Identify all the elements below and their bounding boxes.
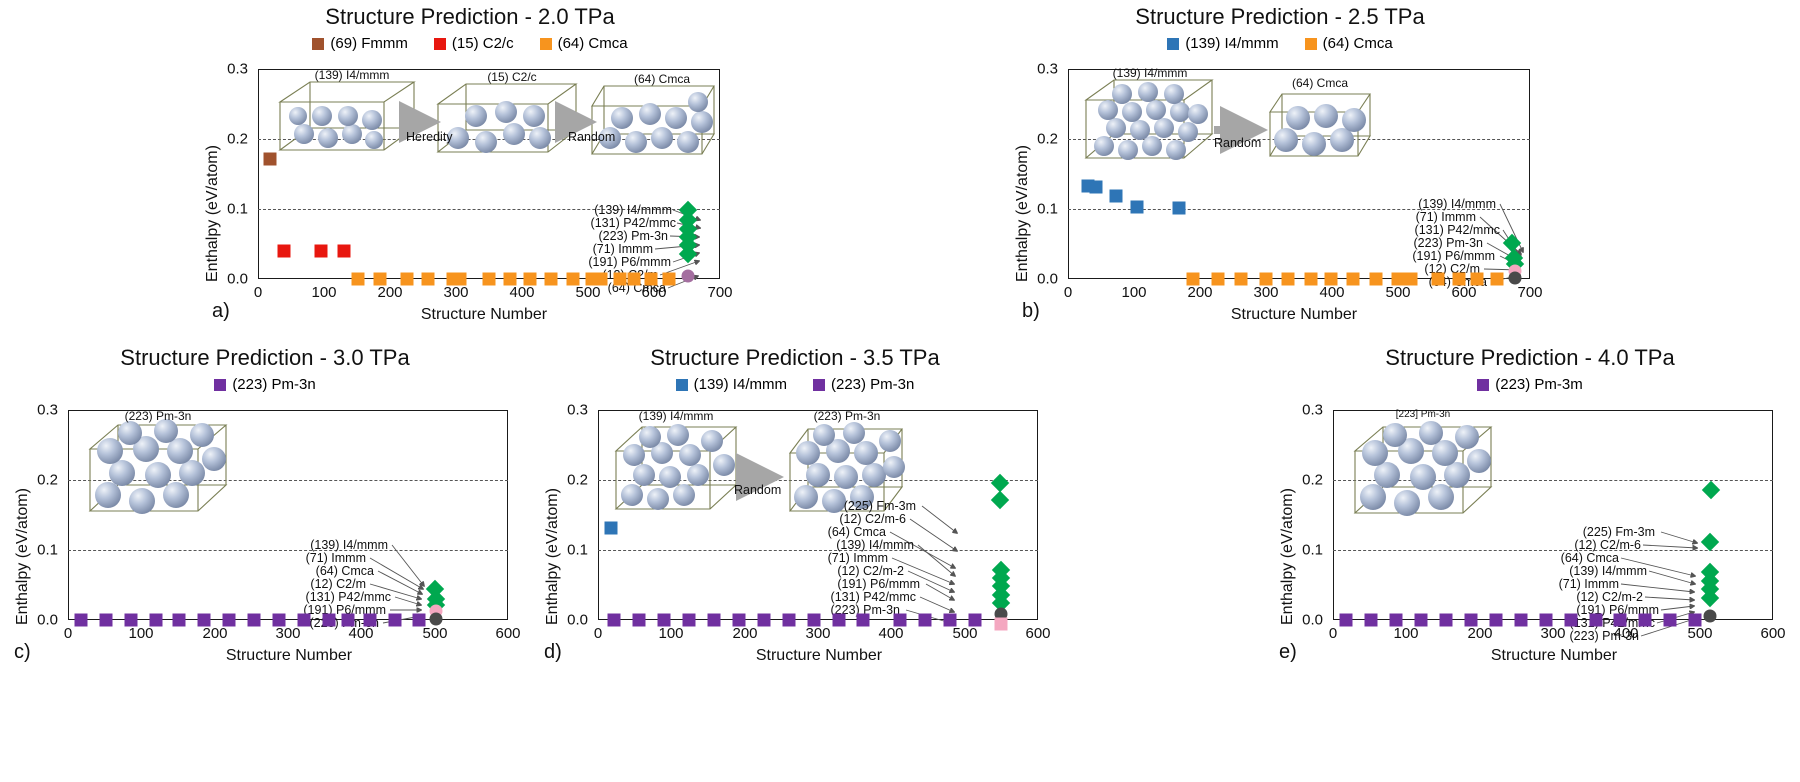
legend-item: (139) I4/mmm bbox=[1167, 35, 1278, 52]
data-point-square bbox=[1369, 273, 1382, 286]
data-point-square bbox=[613, 273, 626, 286]
panel-d-legend: (139) I4/mmm (223) Pm-3n bbox=[530, 376, 1060, 393]
panel-a-label: a) bbox=[212, 300, 230, 323]
x-tick: 0 bbox=[594, 625, 602, 642]
x-tick: 400 bbox=[1613, 625, 1638, 642]
x-tick: 500 bbox=[1687, 625, 1712, 642]
legend-label: (223) Pm-3n bbox=[232, 376, 315, 393]
annotation: (139) I4/mmm bbox=[262, 538, 388, 552]
legend-item: (139) I4/mmm bbox=[676, 376, 787, 393]
y-tick: 0.0 bbox=[212, 271, 248, 288]
x-tick: 200 bbox=[1467, 625, 1492, 642]
data-point-square bbox=[337, 245, 350, 258]
data-point-square bbox=[173, 614, 186, 627]
data-point-square bbox=[263, 152, 276, 165]
data-point-square bbox=[1212, 273, 1225, 286]
annotation: (64) Cmca bbox=[788, 525, 886, 539]
legend-item: (64) Cmca bbox=[540, 35, 628, 52]
panel-b-label: b) bbox=[1022, 300, 1040, 323]
data-point-square bbox=[75, 614, 88, 627]
x-tick: 100 bbox=[311, 284, 336, 301]
annotation: (12) C2/m-2 bbox=[788, 564, 904, 578]
annotation: (139) I4/mmm bbox=[1525, 564, 1647, 578]
panel-e-plot: Enthalpy (eV/atom) 0.3 0.2 0.1 0.0 [223]… bbox=[1265, 403, 1795, 678]
x-tick: 100 bbox=[1121, 284, 1146, 301]
legend-item: (15) C2/c bbox=[434, 35, 514, 52]
panel-b-inset: (139) I4/mmm (64) Cmca Random bbox=[1074, 72, 1374, 182]
legend-swatch bbox=[434, 38, 446, 50]
data-point-circle bbox=[1509, 271, 1522, 284]
legend-label: (69) Fmmm bbox=[330, 35, 408, 52]
x-tick: 400 bbox=[1319, 284, 1344, 301]
data-point-square bbox=[1109, 190, 1122, 203]
annotation: (71) Immm bbox=[262, 551, 366, 565]
panel-a: Structure Prediction - 2.0 TPa (69) Fmmm… bbox=[190, 4, 750, 52]
legend-label: (139) I4/mmm bbox=[1185, 35, 1278, 52]
inset-title: (139) I4/mmm bbox=[292, 68, 412, 82]
annotation: (225) Fm-3m bbox=[788, 499, 916, 513]
y-tick: 0.1 bbox=[22, 542, 58, 559]
inset-structure-diagram bbox=[1341, 415, 1521, 533]
panel-e-inset: [223] Pm-3n bbox=[1341, 415, 1521, 533]
data-point-square bbox=[323, 614, 336, 627]
arrow-label-random: Random bbox=[1214, 136, 1261, 150]
data-point-square bbox=[1304, 273, 1317, 286]
panel-b-legend: (139) I4/mmm (64) Cmca bbox=[1000, 35, 1560, 52]
x-tick: 0 bbox=[1064, 284, 1072, 301]
x-tick: 400 bbox=[509, 284, 534, 301]
panel-c: Structure Prediction - 3.0 TPa (223) Pm-… bbox=[0, 345, 530, 393]
data-point-square bbox=[1589, 614, 1602, 627]
annotation: (64) Cmca bbox=[262, 564, 374, 578]
y-tick: 0.2 bbox=[1287, 472, 1323, 489]
data-point-square bbox=[545, 273, 558, 286]
data-point-square bbox=[707, 614, 720, 627]
data-point-square bbox=[995, 618, 1008, 631]
data-point-square bbox=[483, 273, 496, 286]
data-point-square bbox=[633, 614, 646, 627]
y-tick: 0.1 bbox=[212, 201, 248, 218]
x-tick: 0 bbox=[254, 284, 262, 301]
y-tick: 0.2 bbox=[22, 472, 58, 489]
panel-a-plot: Enthalpy (eV/atom) 0.3 0.2 0.1 0.0 bbox=[190, 62, 750, 337]
arrow-label-heredity: Heredity bbox=[406, 130, 453, 144]
legend-swatch bbox=[813, 379, 825, 391]
legend-swatch bbox=[1477, 379, 1489, 391]
annotation: (139) I4/mmm bbox=[548, 203, 672, 217]
x-tick: 300 bbox=[443, 284, 468, 301]
x-tick: 100 bbox=[658, 625, 683, 642]
legend-item: (64) Cmca bbox=[1305, 35, 1393, 52]
data-point-square bbox=[757, 614, 770, 627]
x-tick: 0 bbox=[64, 625, 72, 642]
data-point-square bbox=[628, 273, 641, 286]
panel-b-x-axis-label: Structure Number bbox=[1044, 306, 1544, 324]
inset-structure-diagram bbox=[76, 415, 256, 530]
annotation: (139) I4/mmm bbox=[788, 538, 914, 552]
legend-item: (223) Pm-3n bbox=[813, 376, 914, 393]
legend-item: (223) Pm-3n bbox=[214, 376, 315, 393]
panel-a-x-axis-label: Structure Number bbox=[234, 306, 734, 324]
panel-d-title: Structure Prediction - 3.5 TPa bbox=[530, 345, 1060, 371]
y-tick: 0.3 bbox=[212, 61, 248, 78]
data-point-square bbox=[1172, 201, 1185, 214]
data-point-square bbox=[857, 614, 870, 627]
legend-swatch bbox=[676, 379, 688, 391]
y-tick: 0.0 bbox=[552, 612, 588, 629]
data-point-square bbox=[832, 614, 845, 627]
x-tick: 300 bbox=[1540, 625, 1565, 642]
legend-swatch bbox=[1167, 38, 1179, 50]
data-point-square bbox=[100, 614, 113, 627]
x-tick: 400 bbox=[348, 625, 373, 642]
data-point-circle bbox=[1703, 609, 1716, 622]
x-tick: 200 bbox=[1187, 284, 1212, 301]
annotation: (131) P42/mmc bbox=[262, 590, 391, 604]
y-tick: 0.3 bbox=[1022, 61, 1058, 78]
data-point-square bbox=[1089, 181, 1102, 194]
annotation: (71) Immm bbox=[788, 551, 888, 565]
x-tick: 500 bbox=[952, 625, 977, 642]
annotation: (225) Fm-3m bbox=[1525, 525, 1655, 539]
panel-e-title: Structure Prediction - 4.0 TPa bbox=[1265, 345, 1795, 371]
y-tick: 0.0 bbox=[1287, 612, 1323, 629]
annotation: (12) C2/m bbox=[262, 577, 366, 591]
y-tick: 0.3 bbox=[1287, 402, 1323, 419]
x-tick: 200 bbox=[202, 625, 227, 642]
inset-title: (223) Pm-3n bbox=[792, 409, 902, 423]
annotation: (223) Pm-3n bbox=[1372, 236, 1483, 250]
x-tick: 300 bbox=[805, 625, 830, 642]
panel-a-legend: (69) Fmmm (15) C2/c (64) Cmca bbox=[190, 35, 750, 52]
data-point-square bbox=[919, 614, 932, 627]
inset-title: (64) Cmca bbox=[602, 72, 722, 86]
data-point-square bbox=[1431, 273, 1444, 286]
panel-c-inset: (223) Pm-3n bbox=[76, 415, 256, 530]
data-point-square bbox=[1234, 273, 1247, 286]
panel-b-plot: Enthalpy (eV/atom) 0.3 0.2 0.1 0.0 bbox=[1000, 62, 1560, 337]
data-point-square bbox=[1439, 614, 1452, 627]
panel-c-plot: Enthalpy (eV/atom) 0.3 0.2 0.1 0.0 (223)… bbox=[0, 403, 530, 678]
data-point-square bbox=[1282, 273, 1295, 286]
legend-label: (15) C2/c bbox=[452, 35, 514, 52]
x-tick: 600 bbox=[641, 284, 666, 301]
y-tick: 0.2 bbox=[552, 472, 588, 489]
panel-d: Structure Prediction - 3.5 TPa (139) I4/… bbox=[530, 345, 1060, 393]
panel-a-inset: (139) I4/mmm (15) C2/c (64) Cmca Heredit… bbox=[262, 72, 718, 177]
x-tick: 400 bbox=[878, 625, 903, 642]
inset-title: [223] Pm-3n bbox=[1367, 409, 1479, 420]
data-point-square bbox=[782, 614, 795, 627]
annotation: (71) Immm bbox=[1525, 577, 1619, 591]
x-tick: 700 bbox=[707, 284, 732, 301]
y-tick: 0.2 bbox=[212, 131, 248, 148]
inset-title: (139) I4/mmm bbox=[1086, 66, 1214, 80]
x-tick: 600 bbox=[1451, 284, 1476, 301]
legend-swatch bbox=[214, 379, 226, 391]
y-tick: 0.2 bbox=[1022, 131, 1058, 148]
y-tick: 0.0 bbox=[22, 612, 58, 629]
annotation: (71) Immm bbox=[548, 242, 653, 256]
x-tick: 300 bbox=[1253, 284, 1278, 301]
panel-d-x-axis-label: Structure Number bbox=[574, 647, 1064, 665]
arrow-label-random: Random bbox=[568, 130, 615, 144]
x-tick: 100 bbox=[1393, 625, 1418, 642]
data-point-square bbox=[1491, 273, 1504, 286]
data-point-square bbox=[1664, 614, 1677, 627]
annotation: (131) P42/mmc bbox=[788, 590, 916, 604]
x-tick: 200 bbox=[377, 284, 402, 301]
panel-c-title: Structure Prediction - 3.0 TPa bbox=[0, 345, 530, 371]
legend-label: (64) Cmca bbox=[1323, 35, 1393, 52]
panel-c-label: c) bbox=[14, 641, 31, 664]
legend-swatch bbox=[312, 38, 324, 50]
x-tick: 500 bbox=[575, 284, 600, 301]
panel-d-label: d) bbox=[544, 641, 562, 664]
panel-c-legend: (223) Pm-3n bbox=[0, 376, 530, 393]
data-point-circle bbox=[430, 612, 443, 625]
data-point-square bbox=[1340, 614, 1353, 627]
inset-title: (223) Pm-3n bbox=[100, 409, 216, 423]
data-point-square bbox=[1639, 614, 1652, 627]
inset-title: (64) Cmca bbox=[1268, 76, 1372, 90]
legend-label: (139) I4/mmm bbox=[694, 376, 787, 393]
data-point-square bbox=[1564, 614, 1577, 627]
annotation: (64) Cmca bbox=[1525, 551, 1619, 565]
data-point-square bbox=[1514, 614, 1527, 627]
annotation: (12) C2/m-6 bbox=[1525, 538, 1641, 552]
x-tick: 600 bbox=[1760, 625, 1785, 642]
data-point-square bbox=[1131, 200, 1144, 213]
annotation: (12) C2/m-6 bbox=[788, 512, 906, 526]
panel-b-title: Structure Prediction - 2.5 TPa bbox=[1000, 4, 1560, 30]
inset-title: (15) C2/c bbox=[452, 70, 572, 84]
y-tick: 0.1 bbox=[552, 542, 588, 559]
legend-swatch bbox=[1305, 38, 1317, 50]
data-point-square bbox=[248, 614, 261, 627]
data-point-square bbox=[314, 245, 327, 258]
x-tick: 0 bbox=[1329, 625, 1337, 642]
data-point-square bbox=[1365, 614, 1378, 627]
data-point-circle bbox=[682, 270, 695, 283]
x-tick: 600 bbox=[495, 625, 520, 642]
data-point-square bbox=[605, 522, 618, 535]
x-tick: 100 bbox=[128, 625, 153, 642]
data-point-square bbox=[682, 614, 695, 627]
inset-title: (139) I4/mmm bbox=[614, 409, 738, 423]
panel-e-x-axis-label: Structure Number bbox=[1309, 647, 1799, 665]
annotation: (139) I4/mmm bbox=[1372, 197, 1496, 211]
data-point-square bbox=[422, 273, 435, 286]
data-point-square bbox=[352, 273, 365, 286]
x-tick: 200 bbox=[732, 625, 757, 642]
y-tick: 0.3 bbox=[552, 402, 588, 419]
panel-e: Structure Prediction - 4.0 TPa (223) Pm-… bbox=[1265, 345, 1795, 393]
legend-swatch bbox=[540, 38, 552, 50]
data-point-square bbox=[1347, 273, 1360, 286]
arrow-label-random: Random bbox=[734, 483, 781, 497]
panel-a-title: Structure Prediction - 2.0 TPa bbox=[190, 4, 750, 30]
x-tick: 500 bbox=[1385, 284, 1410, 301]
x-tick: 500 bbox=[422, 625, 447, 642]
inset-structure-diagrams bbox=[262, 72, 718, 177]
legend-label: (64) Cmca bbox=[558, 35, 628, 52]
y-tick: 0.1 bbox=[1022, 201, 1058, 218]
annotation: (191) P6/mmm bbox=[788, 577, 920, 591]
annotation: (131) P42/mmc bbox=[1372, 223, 1500, 237]
legend-label: (223) Pm-3n bbox=[831, 376, 914, 393]
data-point-square bbox=[608, 614, 621, 627]
panel-c-x-axis-label: Structure Number bbox=[44, 647, 534, 665]
annotation: (191) P6/mmm bbox=[548, 255, 671, 269]
annotation: (223) Pm-3n bbox=[548, 229, 668, 243]
legend-label: (223) Pm-3m bbox=[1495, 376, 1583, 393]
annotation: (71) Immm bbox=[1372, 210, 1476, 224]
x-tick: 600 bbox=[1025, 625, 1050, 642]
y-tick: 0.1 bbox=[1287, 542, 1323, 559]
data-point-square bbox=[389, 614, 402, 627]
annotation: (12) C2/m-2 bbox=[1525, 590, 1643, 604]
panel-d-plot: Enthalpy (eV/atom) 0.3 0.2 0.1 0.0 bbox=[530, 403, 1060, 678]
y-tick: 0.0 bbox=[1022, 271, 1058, 288]
annotation: (131) P42/mmc bbox=[548, 216, 676, 230]
data-point-square bbox=[278, 245, 291, 258]
legend-item: (69) Fmmm bbox=[312, 35, 408, 52]
x-tick: 300 bbox=[275, 625, 300, 642]
y-tick: 0.3 bbox=[22, 402, 58, 419]
x-tick: 700 bbox=[1517, 284, 1542, 301]
panel-b: Structure Prediction - 2.5 TPa (139) I4/… bbox=[1000, 4, 1560, 52]
panel-e-legend: (223) Pm-3m bbox=[1265, 376, 1795, 393]
annotation: (191) P6/mmm bbox=[1372, 249, 1495, 263]
legend-item: (223) Pm-3m bbox=[1477, 376, 1583, 393]
panel-e-label: e) bbox=[1279, 641, 1297, 664]
